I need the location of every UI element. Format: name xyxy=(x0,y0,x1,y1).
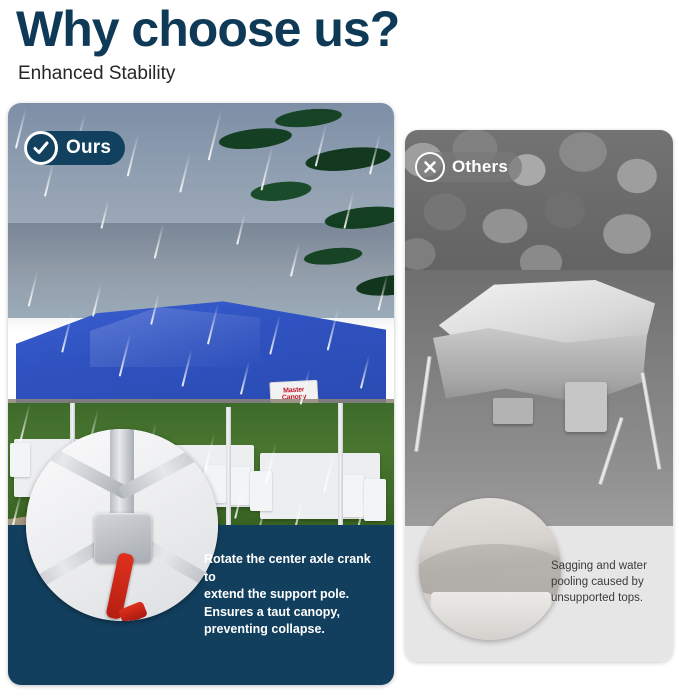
ours-caption-line: Rotate the center axle crank to xyxy=(204,551,382,586)
others-caption: Sagging and water pooling caused by unsu… xyxy=(551,558,663,606)
center-pole xyxy=(110,429,134,523)
check-circle-icon xyxy=(24,131,58,165)
folding-table xyxy=(493,398,533,424)
header: Why choose us? Enhanced Stability xyxy=(16,2,656,86)
others-detail-inset xyxy=(419,498,561,640)
chair xyxy=(228,467,250,505)
others-caption-line: pooling caused by xyxy=(551,574,663,590)
others-caption-line: unsupported tops. xyxy=(551,590,663,606)
canopy-drooping-fabric xyxy=(433,328,647,410)
ours-detail-inset xyxy=(26,429,218,621)
others-badge-label: Others xyxy=(452,157,508,177)
ours-caption-line: extend the support pole. xyxy=(204,586,382,604)
chair xyxy=(250,471,272,511)
chair xyxy=(342,475,364,517)
ours-caption-line: Ensures a taut canopy, xyxy=(204,604,382,622)
x-circle-icon xyxy=(415,152,445,182)
others-caption-line: Sagging and water xyxy=(551,558,663,574)
ours-caption-line: preventing collapse. xyxy=(204,621,382,639)
comparison-infographic: Why choose us? Enhanced Stability Master… xyxy=(0,0,679,696)
canopy-skirt xyxy=(431,592,551,640)
panel-ours: Master Canopy xyxy=(8,103,394,685)
chair xyxy=(364,479,386,521)
collapsed-canopy xyxy=(419,280,663,430)
folding-chair xyxy=(565,382,607,432)
ours-badge: Ours xyxy=(24,131,125,165)
ours-badge-label: Ours xyxy=(66,137,111,159)
ours-caption: Rotate the center axle crank to extend t… xyxy=(204,551,382,639)
panel-others: Sagging and water pooling caused by unsu… xyxy=(405,130,673,662)
page-subtitle: Enhanced Stability xyxy=(18,62,656,86)
canopy-leg xyxy=(226,407,231,531)
page-title: Why choose us? xyxy=(16,2,656,56)
others-photo xyxy=(405,130,673,530)
canopy-leg xyxy=(338,403,343,531)
others-badge: Others xyxy=(415,152,522,182)
